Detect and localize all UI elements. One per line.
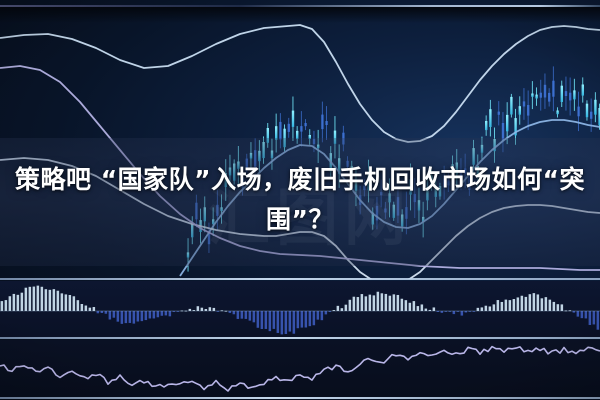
headline-text: 策略吧 “国家队”入场，废旧手机回收市场如何“突围”？ bbox=[10, 160, 590, 240]
news-thumbnail-image: 汇图网 策略吧 “国家队”入场，废旧手机回收市场如何“突围”？ bbox=[0, 0, 600, 400]
top-shadow-band bbox=[0, 7, 600, 23]
top-highlight-line bbox=[0, 5, 600, 7]
